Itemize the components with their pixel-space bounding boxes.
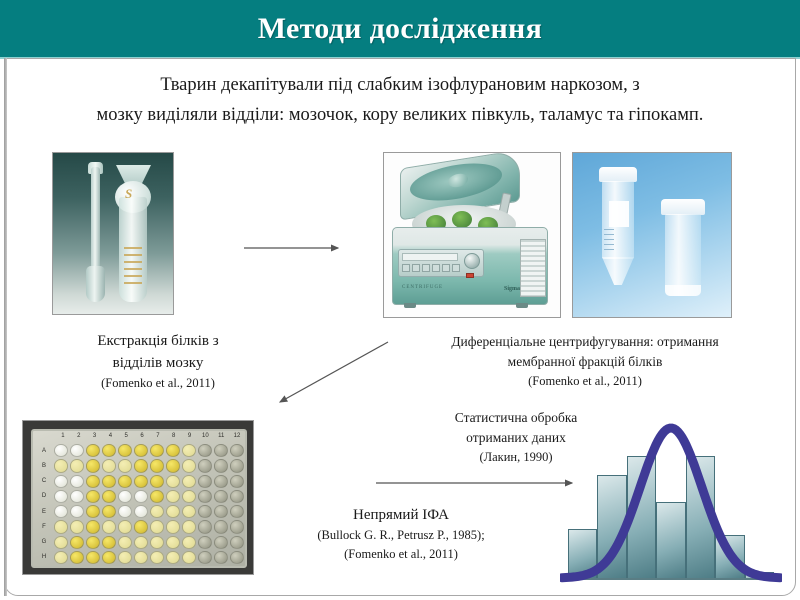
slide-frame-left-bar	[4, 58, 7, 596]
microplate-col-label: 7	[150, 433, 166, 443]
sample-tubes-photo	[572, 152, 732, 318]
microplate-well	[102, 459, 116, 472]
microplate-well	[134, 505, 148, 518]
page-title: Методи дослідження	[258, 12, 542, 46]
conical-tube-cap-shape	[599, 167, 637, 182]
microplate-well	[166, 536, 180, 549]
microplate-well	[70, 551, 84, 564]
header-underline	[0, 57, 800, 59]
microplate-well	[214, 490, 228, 503]
microplate-well	[182, 475, 196, 488]
microplate-well	[54, 444, 68, 457]
microplate-well	[54, 536, 68, 549]
microplate-well	[198, 475, 212, 488]
microplate-well	[166, 551, 180, 564]
microplate-well	[182, 551, 196, 564]
microplate-well	[214, 475, 228, 488]
microplate-well	[150, 490, 164, 503]
microplate-well	[118, 505, 132, 518]
chart-bar	[568, 529, 597, 578]
microplate-well	[70, 536, 84, 549]
microplate-well	[230, 520, 244, 533]
microplate-well	[198, 444, 212, 457]
microplate-well	[54, 475, 68, 488]
microplate-well	[86, 536, 100, 549]
microplate-well	[134, 551, 148, 564]
microplate-col-label: 4	[102, 433, 118, 443]
microplate-col-label: 6	[134, 433, 150, 443]
microplate-well	[166, 505, 180, 518]
microplate-col-label: 1	[55, 433, 71, 443]
flat-vial-cap-shape	[661, 199, 705, 215]
microplate-well	[198, 490, 212, 503]
microplate-well	[118, 444, 132, 457]
microplate-well	[118, 536, 132, 549]
microplate-well	[118, 475, 132, 488]
centrifuge-caption: Диференціальне центрифугування: отриманн…	[380, 332, 790, 391]
microplate-row-label: G	[37, 535, 51, 550]
microplate-well	[214, 459, 228, 472]
microplate-well	[166, 459, 180, 472]
microplate-well	[134, 536, 148, 549]
extraction-caption-line-1: Екстракція білків з	[18, 330, 298, 352]
microplate-well	[230, 490, 244, 503]
microplate-col-label: 10	[197, 433, 213, 443]
microplate-col-label: 2	[71, 433, 87, 443]
microplate-well	[86, 551, 100, 564]
flat-vial-body-shape	[665, 214, 701, 296]
microplate-well	[150, 551, 164, 564]
microplate-well	[102, 490, 116, 503]
microplate-well	[134, 520, 148, 533]
microplate-col-label: 12	[229, 433, 245, 443]
microplate-well	[70, 475, 84, 488]
tube-graduations	[124, 247, 142, 291]
microplate-well	[118, 520, 132, 533]
microplate-well	[198, 551, 212, 564]
intro-line-2: мозку виділяли відділи: мозочок, кору ве…	[24, 100, 776, 130]
microplate-well	[54, 490, 68, 503]
centrifuge-citation: (Fomenko et al., 2011)	[380, 372, 790, 391]
microplate-well	[230, 444, 244, 457]
microplate-col-label: 8	[166, 433, 182, 443]
microplate-well	[198, 536, 212, 549]
flat-vial-base-shape	[665, 285, 701, 296]
chart-bar	[597, 475, 626, 578]
intro-paragraph: Тварин декапітували під слабким ізофлура…	[24, 70, 776, 130]
conical-tube-tip-shape	[602, 257, 634, 285]
microplate-well	[102, 505, 116, 518]
microplate-row-label: C	[37, 474, 51, 489]
extraction-citation: (Fomenko et al., 2011)	[18, 374, 298, 393]
microplate-well	[150, 475, 164, 488]
microplate-well	[182, 459, 196, 472]
microplate-col-label: 9	[182, 433, 198, 443]
microplate-well	[134, 459, 148, 472]
microplate-well	[70, 505, 84, 518]
centrifuge-caption-line-1: Диференціальне центрифугування: отриманн…	[380, 332, 790, 352]
microplate-well	[214, 520, 228, 533]
centrifuge-caption-line-2: мембранної фракцій білків	[380, 352, 790, 372]
microplate-well	[54, 551, 68, 564]
pestle-tip-shape	[86, 266, 105, 302]
microplate-well	[150, 444, 164, 457]
microplate-well	[70, 490, 84, 503]
microplate-well	[150, 520, 164, 533]
microplate-well	[230, 475, 244, 488]
microplate-well	[118, 551, 132, 564]
intro-line-1: Тварин декапітували під слабким ізофлура…	[24, 70, 776, 100]
microplate-well	[86, 505, 100, 518]
microplate-well	[214, 536, 228, 549]
microplate-well	[102, 551, 116, 564]
microplate-well	[230, 551, 244, 564]
microplate-well	[102, 475, 116, 488]
microplate-well	[214, 505, 228, 518]
centrifuge-brand-text: CENTRIFUGE	[402, 285, 443, 290]
microplate-well	[134, 444, 148, 457]
centrifuge-photo: CENTRIFUGE Sigma	[383, 152, 561, 318]
microplate-well	[166, 444, 180, 457]
microplate-well	[182, 520, 196, 533]
microplate-wells-grid	[53, 443, 245, 565]
centrifuge-vent-shape	[520, 239, 546, 297]
centrifuge-model-text: Sigma	[504, 286, 520, 292]
extraction-photo: S	[52, 152, 174, 315]
microplate-well	[198, 505, 212, 518]
microplate-well	[182, 490, 196, 503]
microplate-row-label: F	[37, 519, 51, 534]
elisa-citation-line-1: (Bullock G. R., Petrusz P., 1985);	[256, 526, 546, 545]
microplate-col-label: 3	[87, 433, 103, 443]
microplate-well	[182, 444, 196, 457]
microplate-well	[230, 459, 244, 472]
microplate-well	[134, 490, 148, 503]
microplate-row-label: A	[37, 443, 51, 458]
chart-bar	[686, 456, 715, 578]
microplate-well	[102, 536, 116, 549]
microplate-column-labels: 123456789101112	[55, 433, 245, 443]
microplate-shape: 123456789101112 ABCDEFGH	[31, 429, 247, 568]
centrifuge-bucket-shape	[452, 211, 472, 228]
arrow-elisa-to-statistics	[372, 472, 582, 496]
microplate-well	[214, 444, 228, 457]
microplate-well	[118, 490, 132, 503]
microplate-row-label: B	[37, 458, 51, 473]
microplate-row-label: D	[37, 489, 51, 504]
microplate-well	[182, 505, 196, 518]
statistics-chart	[560, 420, 782, 592]
microplate-well	[198, 459, 212, 472]
microplate-well	[118, 459, 132, 472]
chart-bar	[656, 502, 685, 578]
microplate-row-label: H	[37, 550, 51, 565]
microplate-well	[166, 490, 180, 503]
arrow-extraction-to-centrifuge	[240, 236, 350, 260]
microplate-well	[70, 520, 84, 533]
microplate-well	[150, 459, 164, 472]
chart-bars-group	[568, 426, 774, 578]
conical-tube-label-shape	[609, 201, 629, 227]
elisa-caption-title: Непрямий ІФА	[256, 504, 546, 526]
centrifuge-display-shape	[402, 253, 458, 261]
conical-tube-graduations	[604, 229, 614, 255]
centrifuge-stop-button-shape	[466, 273, 474, 278]
microplate-well	[102, 520, 116, 533]
slide-header: Методи дослідження	[0, 0, 800, 57]
chart-bar	[715, 535, 744, 578]
microplate-well	[230, 505, 244, 518]
tube-marking-label: S	[125, 186, 132, 202]
centrifuge-foot-shape	[404, 303, 416, 308]
microplate-col-label: 5	[118, 433, 134, 443]
microplate-col-label: 11	[213, 433, 229, 443]
microplate-well	[166, 520, 180, 533]
microplate-well	[166, 475, 180, 488]
microplate-well	[134, 475, 148, 488]
extraction-caption-line-2: відділів мозку	[18, 352, 298, 374]
microplate-well	[150, 536, 164, 549]
microplate-well	[198, 520, 212, 533]
microplate-row-label: E	[37, 504, 51, 519]
chart-baseline	[560, 578, 782, 580]
chart-bar	[627, 456, 656, 578]
microplate-well	[86, 490, 100, 503]
centrifuge-button-row	[402, 264, 460, 272]
microplate-well	[54, 505, 68, 518]
microplate-well	[86, 459, 100, 472]
microplate-well	[86, 520, 100, 533]
microplate-row-labels: ABCDEFGH	[37, 443, 51, 565]
elisa-citation-line-2: (Fomenko et al., 2011)	[256, 545, 546, 564]
microplate-well	[54, 459, 68, 472]
microplate-well	[86, 475, 100, 488]
elisa-caption: Непрямий ІФА (Bullock G. R., Petrusz P.,…	[256, 504, 546, 564]
slide-root: Методи дослідження Тварин декапітували п…	[0, 0, 800, 600]
centrifuge-foot-shape	[516, 303, 528, 308]
microplate-well	[230, 536, 244, 549]
centrifuge-dial-shape	[464, 253, 480, 269]
microplate-well	[182, 536, 196, 549]
microplate-well	[70, 444, 84, 457]
extraction-caption: Екстракція білків з відділів мозку (Fome…	[18, 330, 298, 393]
microplate-well	[86, 444, 100, 457]
elisa-plate-photo: 123456789101112 ABCDEFGH	[22, 420, 254, 575]
microplate-well	[150, 505, 164, 518]
microplate-well	[70, 459, 84, 472]
microplate-well	[102, 444, 116, 457]
microplate-well	[54, 520, 68, 533]
arrow-centrifuge-to-elisa	[268, 336, 398, 416]
microplate-well	[214, 551, 228, 564]
